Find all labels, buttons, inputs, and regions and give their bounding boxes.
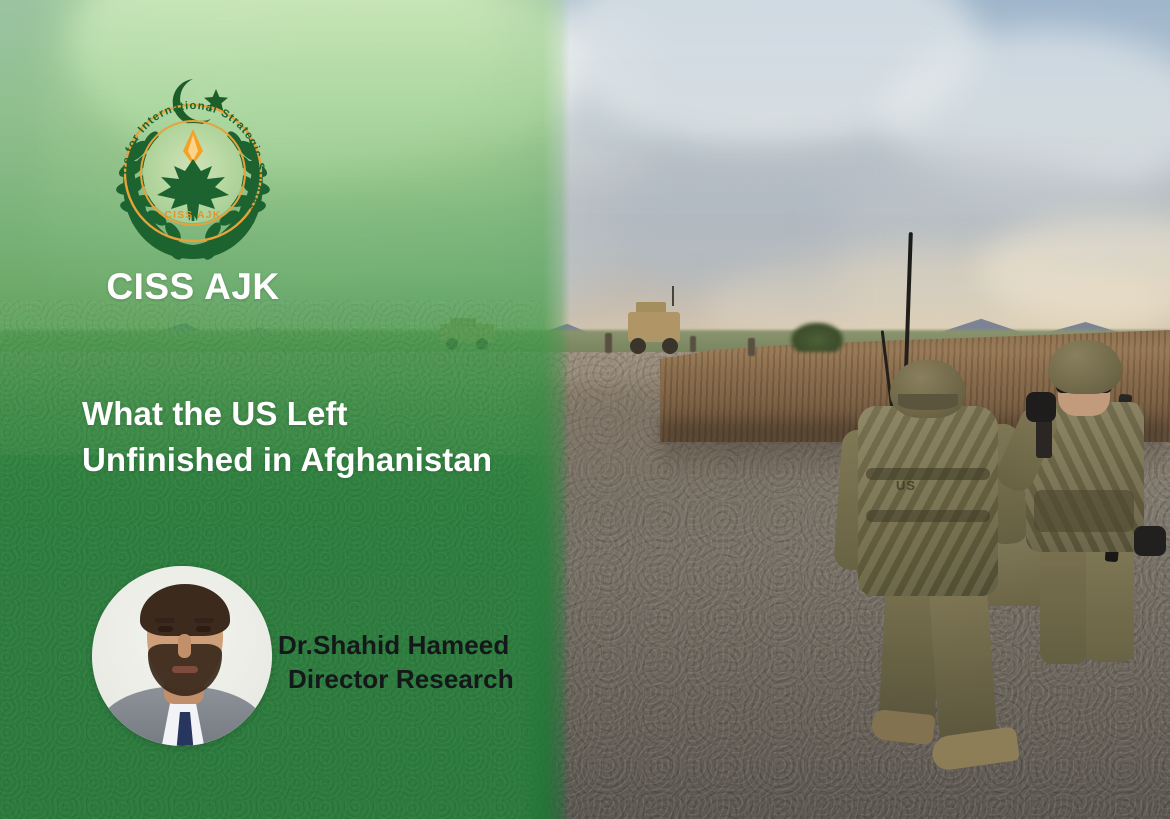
author-title: Director Research (278, 662, 578, 696)
headline-line-2: Unfinished in Afghanistan (82, 437, 552, 483)
headline: What the US Left Unfinished in Afghanist… (82, 391, 552, 482)
headline-line-1: What the US Left (82, 391, 552, 437)
green-grain-texture (0, 300, 560, 819)
social-card: US (0, 0, 1170, 819)
emblem-inner-text: CISS AJK (165, 210, 222, 221)
author-details: Dr.Shahid Hameed Director Research (278, 628, 578, 697)
ciss-ajk-logo: Centre for International Strategic Studi… (93, 73, 293, 318)
ciss-ajk-emblem-icon: Centre for International Strategic Studi… (93, 73, 293, 273)
author-name: Dr.Shahid Hameed (278, 628, 578, 662)
ciss-ajk-wordmark: CISS AJK (93, 268, 293, 305)
author-avatar (92, 566, 272, 746)
